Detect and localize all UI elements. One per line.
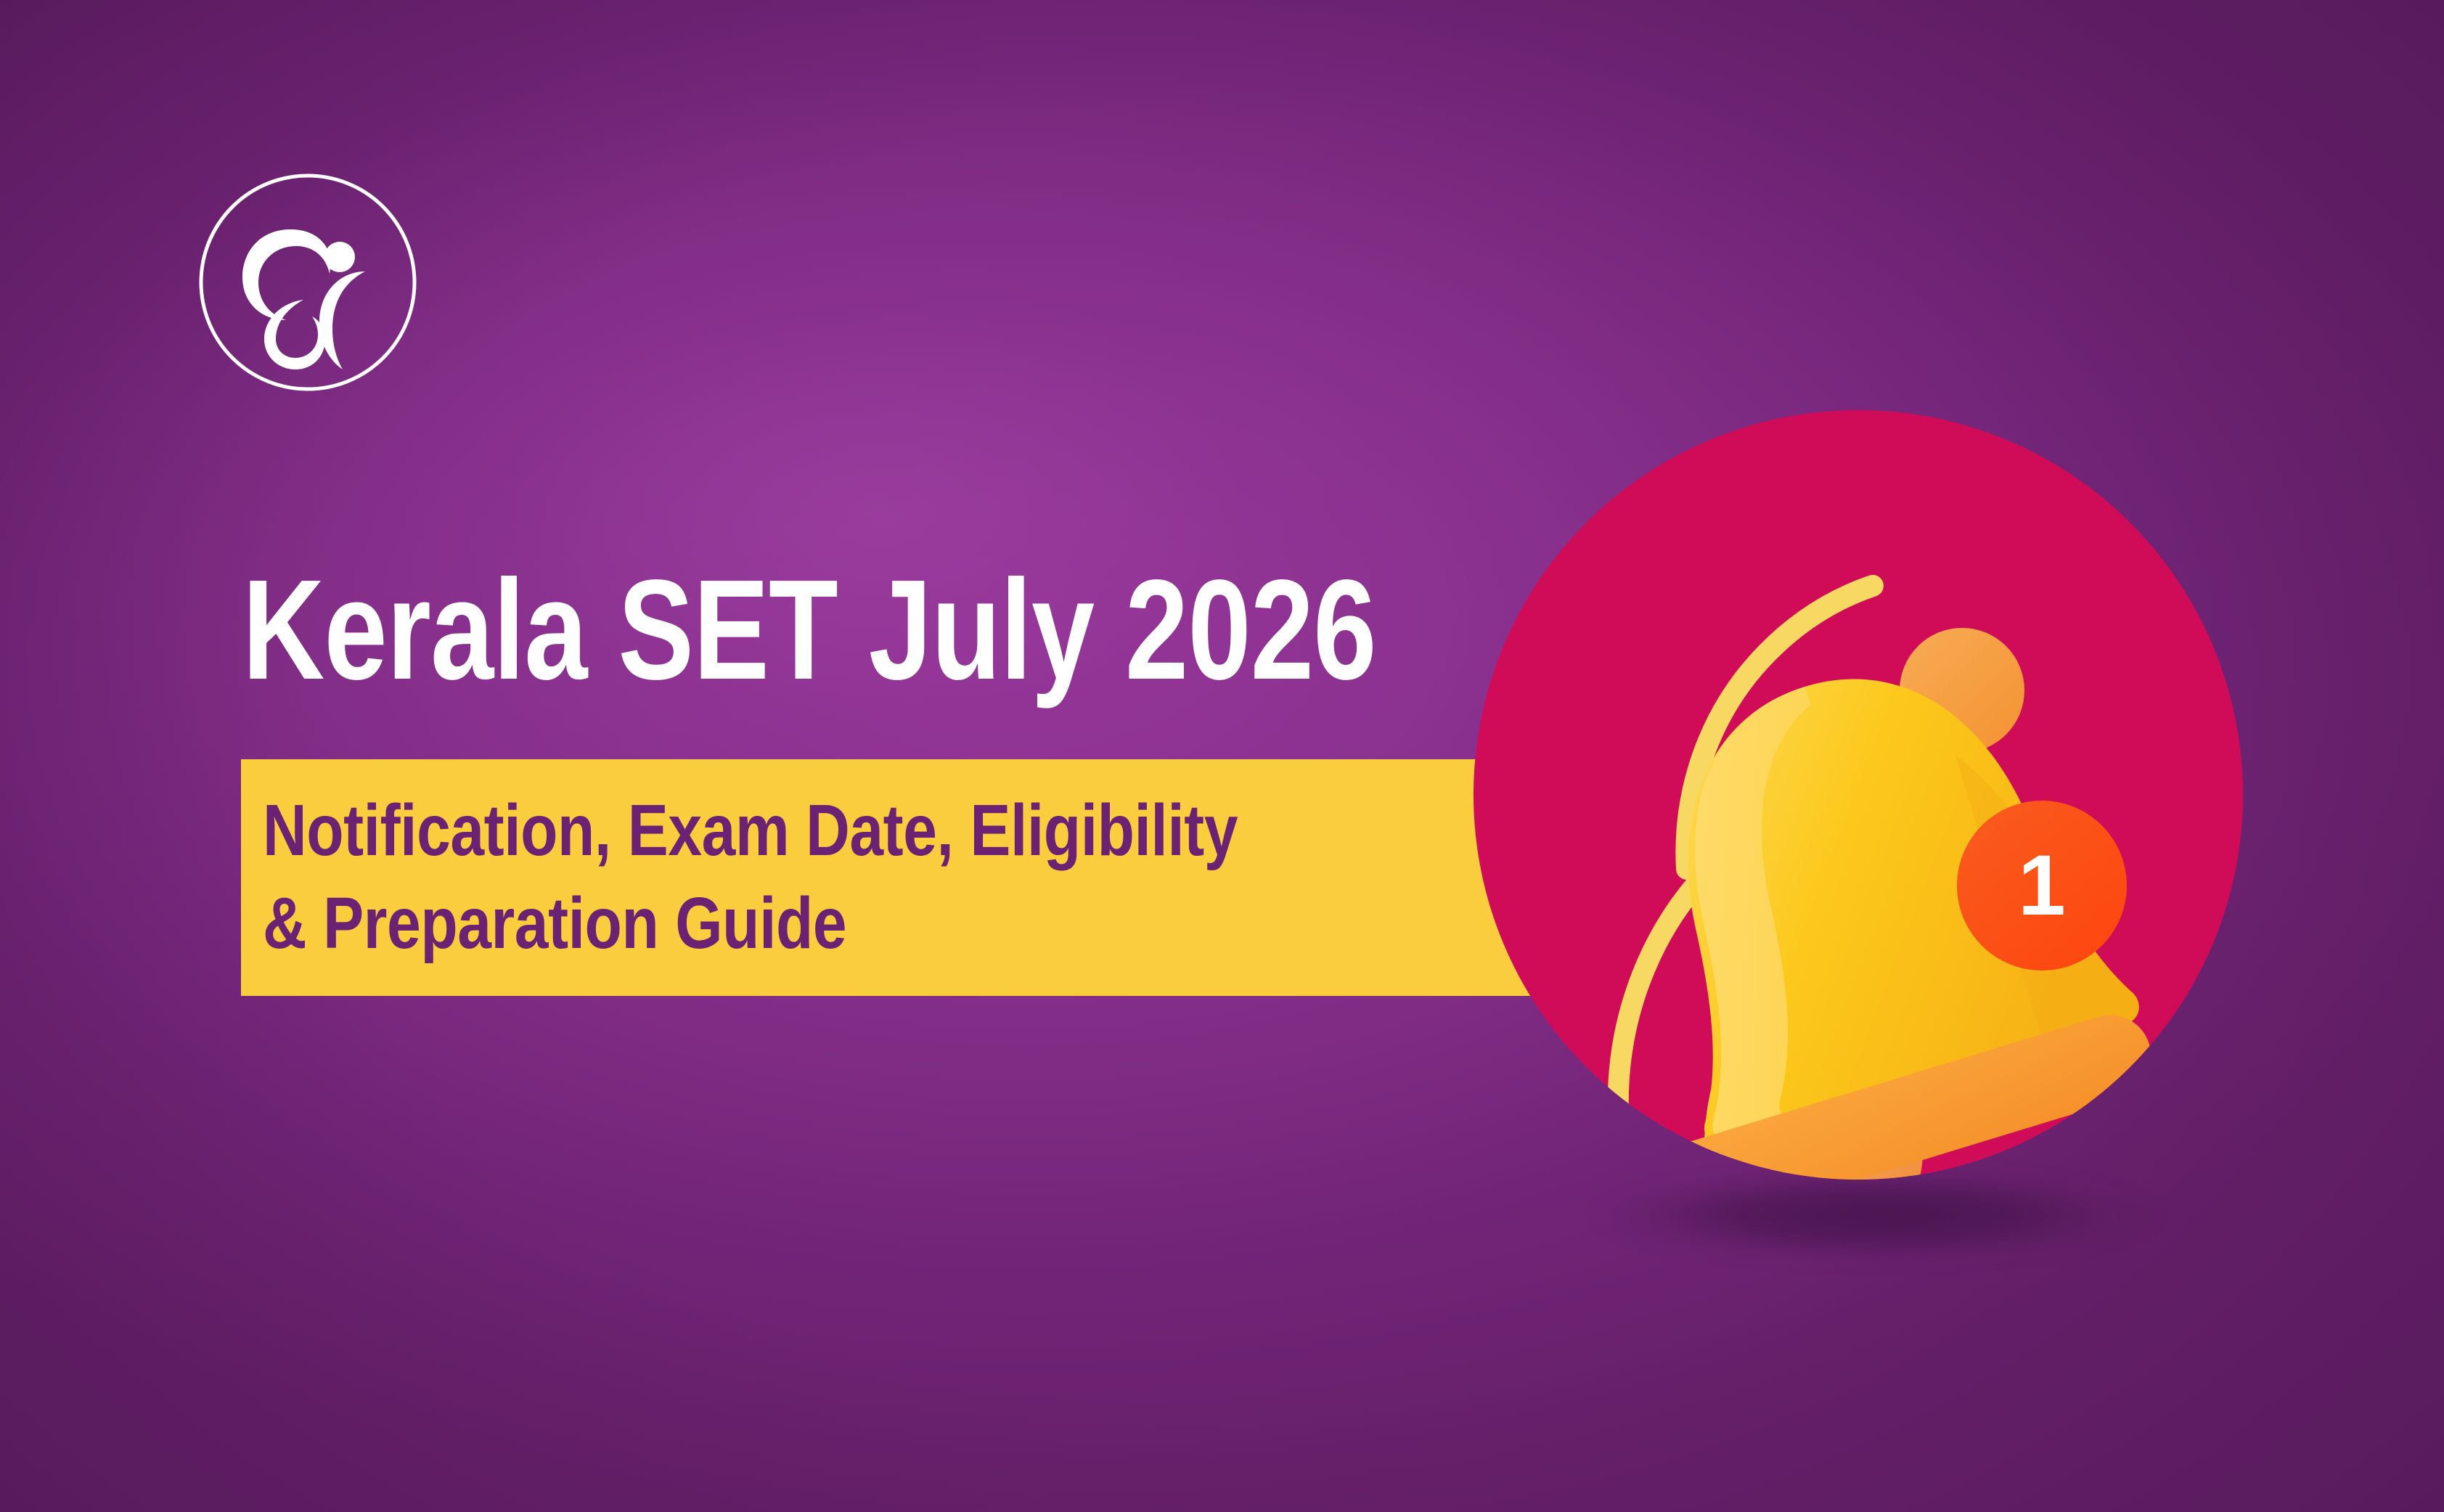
promo-banner: Kerala SET July 2026 Notification, Exam … [0, 0, 2444, 1512]
notification-bell-icon: 1 [1474, 410, 2243, 1180]
brand-logo [197, 172, 418, 393]
bell-drop-shadow [1590, 1167, 2163, 1263]
notification-badge-count: 1 [1982, 825, 2102, 946]
subtitle-line-1: Notification, Exam Date, Eligibility [263, 784, 1312, 877]
page-title: Kerala SET July 2026 [242, 559, 1376, 701]
subtitle-line-2: & Preparation Guide [263, 877, 1312, 970]
subtitle-text: Notification, Exam Date, Eligibility & P… [263, 784, 1312, 970]
